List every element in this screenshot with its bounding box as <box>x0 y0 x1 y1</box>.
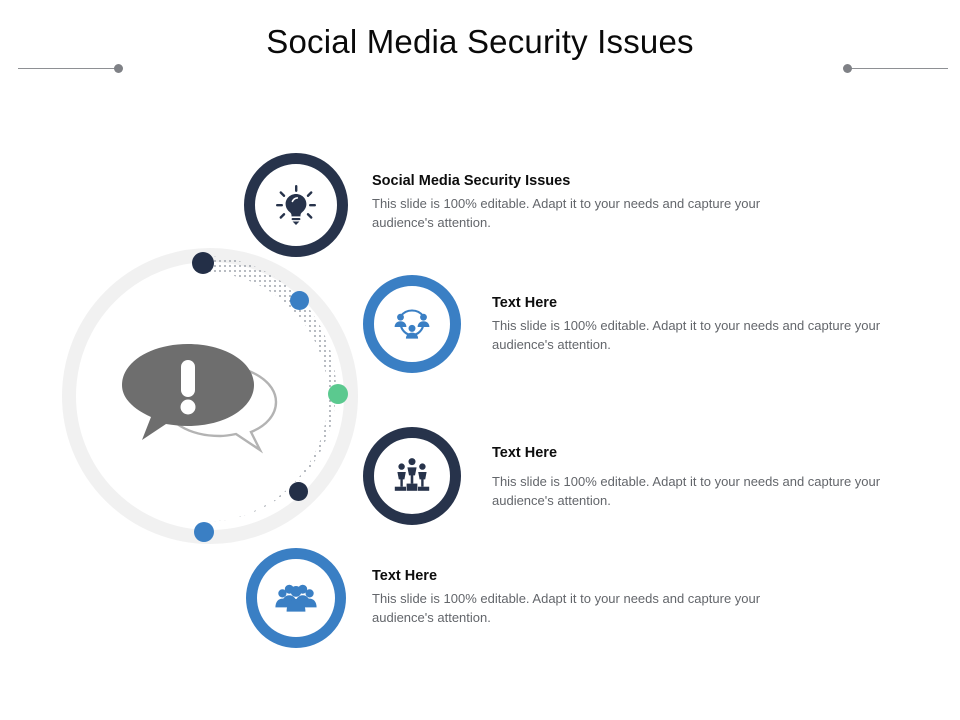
content-block-2-body: This slide is 100% editable. Adapt it to… <box>492 316 900 354</box>
content-block-4-heading: Text Here <box>372 567 782 586</box>
speech-bubbles-icon <box>120 340 300 455</box>
page-title: Social Media Security Issues <box>0 20 960 64</box>
content-block-2: Text Here This slide is 100% editable. A… <box>492 294 900 354</box>
orbit-dot-navy-top <box>192 252 214 274</box>
icon-circle-2[interactable] <box>363 275 461 373</box>
lightbulb-icon <box>274 183 318 227</box>
podium-people-icon <box>390 454 434 498</box>
left-decorative-rule-dot <box>114 64 123 73</box>
orbit-dot-blue-bottom <box>194 522 214 542</box>
icon-circle-3[interactable] <box>363 427 461 525</box>
orbit-dot-navy-lower <box>289 482 308 501</box>
icon-circle-4[interactable] <box>246 548 346 648</box>
content-block-2-heading: Text Here <box>492 294 900 313</box>
content-block-3-heading: Text Here <box>492 444 896 463</box>
content-block-3-body: This slide is 100% editable. Adapt it to… <box>492 472 896 510</box>
central-circular-graphic <box>62 248 344 530</box>
slide-canvas: Social Media Security Issues <box>0 0 960 720</box>
content-block-4-body: This slide is 100% editable. Adapt it to… <box>372 589 782 627</box>
left-decorative-rule <box>18 68 118 69</box>
right-decorative-rule <box>848 68 948 69</box>
right-decorative-rule-dot <box>843 64 852 73</box>
user-group-icon <box>274 576 318 620</box>
orbit-dot-blue-upper <box>290 291 309 310</box>
icon-circle-1[interactable] <box>244 153 348 257</box>
content-block-4: Text Here This slide is 100% editable. A… <box>372 567 782 627</box>
content-block-1-heading: Social Media Security Issues <box>372 172 782 191</box>
orbit-dot-green-right <box>328 384 348 404</box>
content-block-3: Text Here This slide is 100% editable. A… <box>492 444 896 510</box>
content-block-1: Social Media Security Issues This slide … <box>372 172 782 232</box>
content-block-1-body: This slide is 100% editable. Adapt it to… <box>372 194 782 232</box>
team-network-icon <box>390 302 434 346</box>
